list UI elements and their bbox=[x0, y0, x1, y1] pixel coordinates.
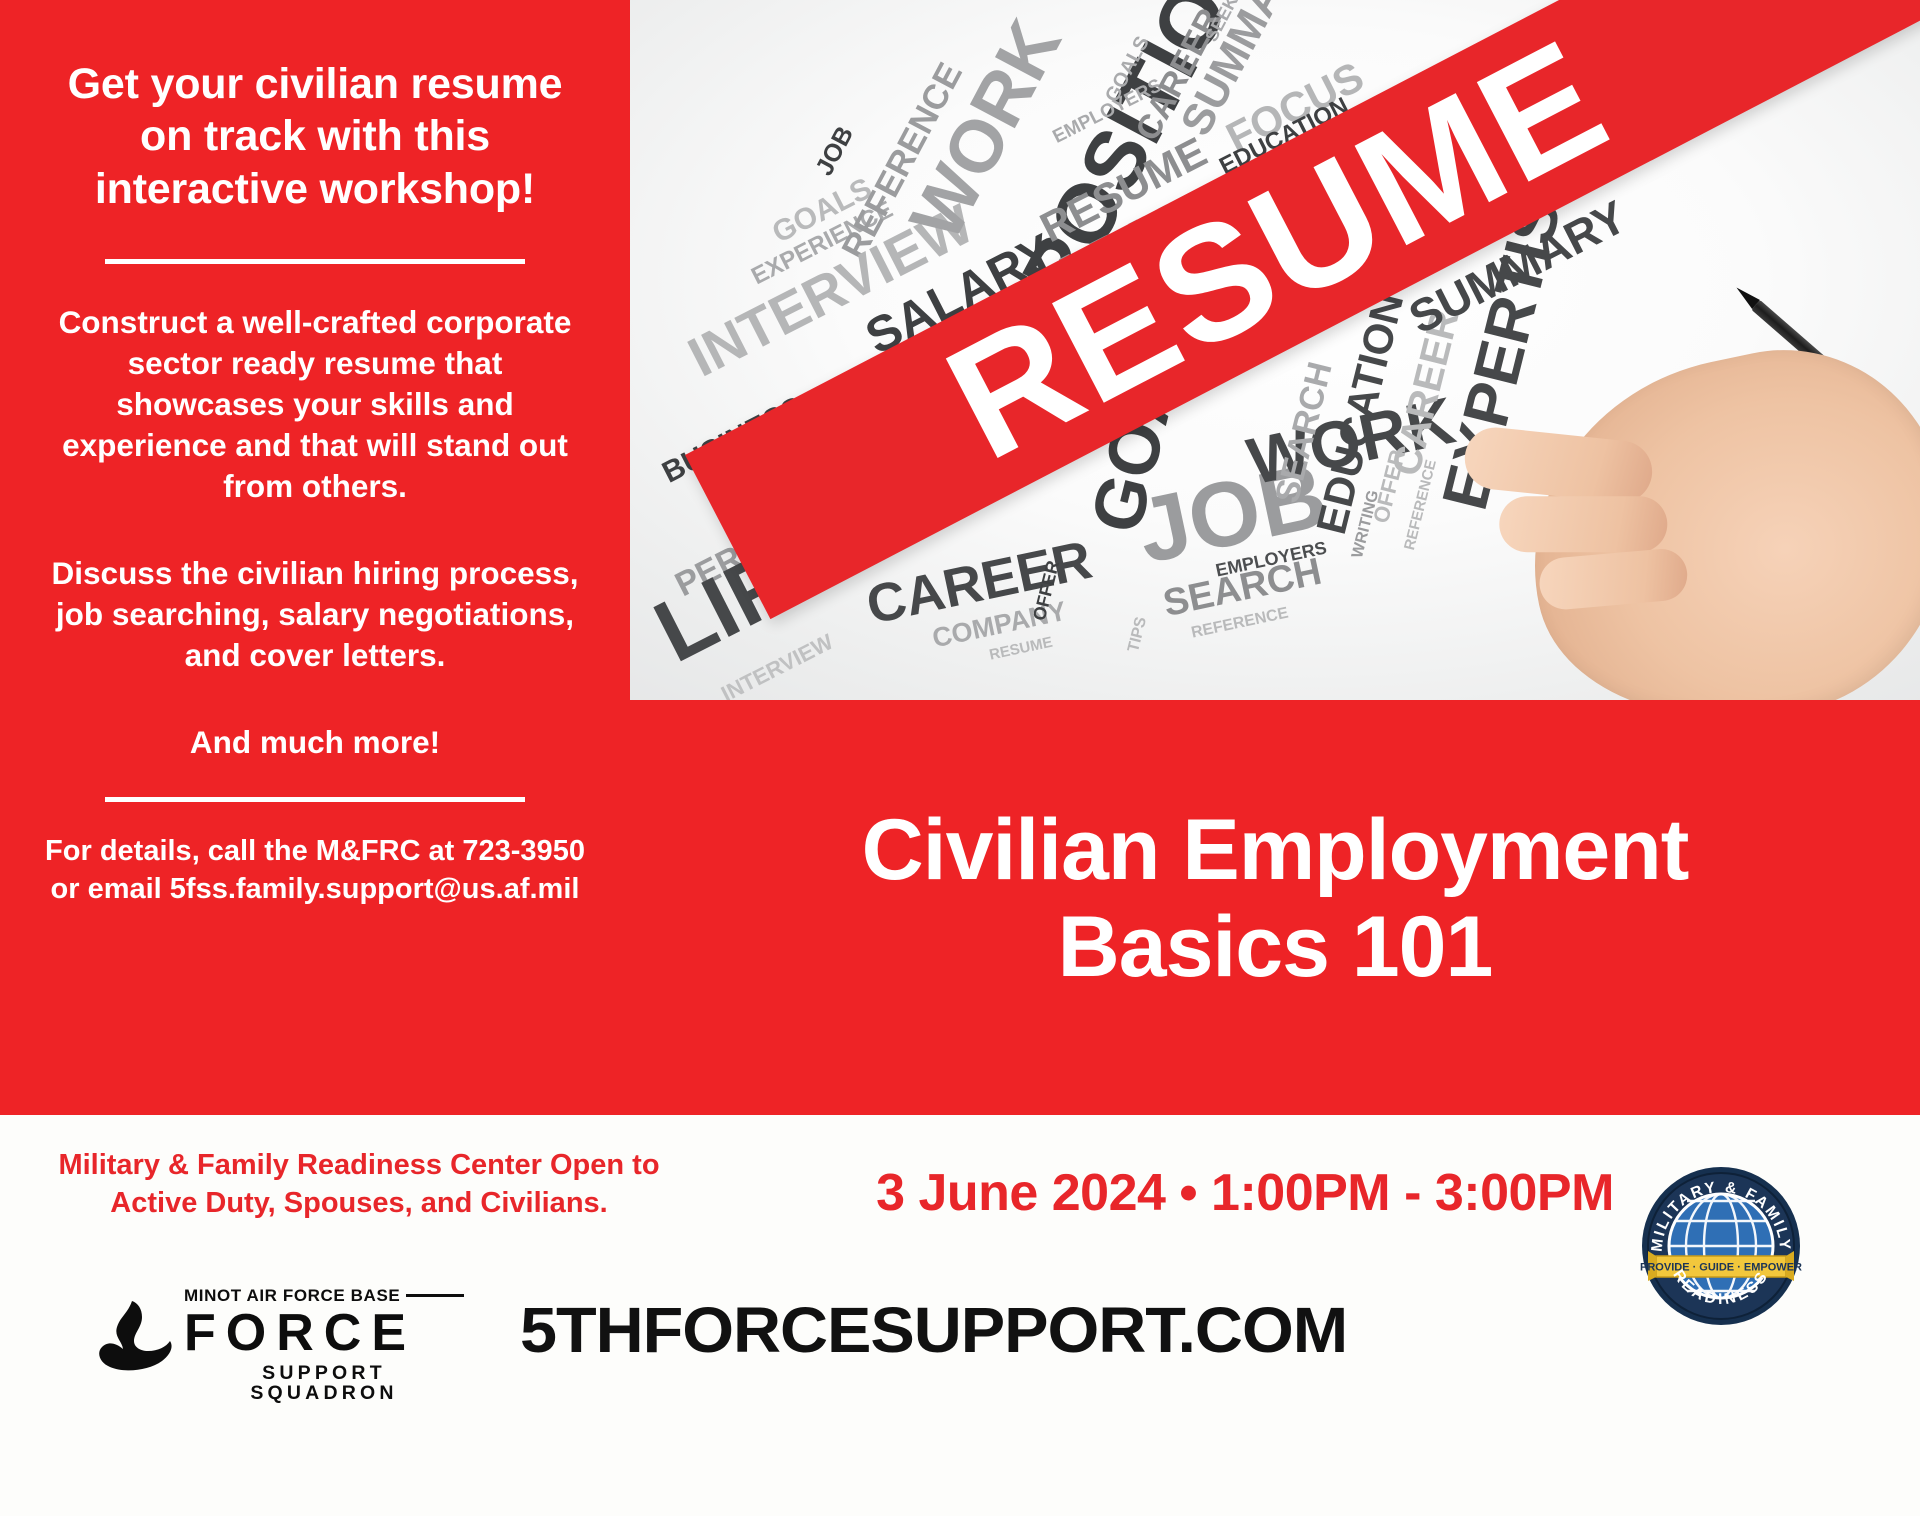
fss-logo-main-text: FORCE bbox=[184, 1306, 464, 1361]
fss-logo-text: MINOT AIR FORCE BASE FORCE SUPPORT SQUAD… bbox=[184, 1287, 464, 1403]
divider-top bbox=[105, 259, 525, 264]
event-title-line-2: Basics 101 bbox=[1058, 899, 1493, 995]
resume-word-cloud-image: GOALS JOB EXPERIENCE REFERENCE INTERVIEW… bbox=[630, 0, 1920, 700]
contact-details-text: For details, call the M&FRC at 723-3950 … bbox=[45, 832, 585, 909]
fss-logo-top-text-row: MINOT AIR FORCE BASE bbox=[184, 1287, 464, 1304]
body-paragraph-3: And much more! bbox=[45, 722, 585, 763]
left-info-panel: Get your civilian resume on track with t… bbox=[0, 0, 630, 1115]
body-paragraph-1: Construct a well-crafted corporate secto… bbox=[45, 302, 585, 507]
divider-bottom bbox=[105, 797, 525, 802]
finger-shape-3 bbox=[1537, 547, 1689, 612]
fss-logo-rule bbox=[406, 1294, 464, 1297]
wordcloud-word-job: JOB bbox=[812, 123, 858, 180]
fss-logo-bottom-text: SUPPORT SQUADRON bbox=[184, 1364, 464, 1403]
event-title-block: Civilian Employment Basics 101 bbox=[630, 700, 1920, 1115]
footer-bar: Military & Family Readiness Center Open … bbox=[0, 1115, 1920, 1516]
body-paragraph-2: Discuss the civilian hiring process, job… bbox=[45, 553, 585, 676]
event-title-line-1: Civilian Employment bbox=[862, 802, 1689, 898]
wordcloud-word-tips: TIPS bbox=[1126, 615, 1150, 653]
fss-flame-swoosh-icon bbox=[92, 1297, 176, 1377]
fss-logo-top-text: MINOT AIR FORCE BASE bbox=[184, 1287, 400, 1304]
headline-text: Get your civilian resume on track with t… bbox=[45, 58, 585, 215]
organization-text: Military & Family Readiness Center Open … bbox=[44, 1147, 674, 1222]
flyer-poster: Get your civilian resume on track with t… bbox=[0, 0, 1920, 1516]
finger-shape-2 bbox=[1499, 496, 1667, 552]
force-support-squadron-logo: MINOT AIR FORCE BASE FORCE SUPPORT SQUAD… bbox=[92, 1287, 462, 1383]
event-date-time: 3 June 2024 • 1:00PM - 3:00PM bbox=[700, 1163, 1790, 1223]
military-family-readiness-seal: PROVIDE · GUIDE · EMPOWER MILITARY & FAM… bbox=[1640, 1165, 1802, 1327]
hand-illustration bbox=[1497, 320, 1920, 700]
website-url[interactable]: 5THFORCESUPPORT.COM bbox=[520, 1293, 1347, 1367]
seal-banner-text: PROVIDE · GUIDE · EMPOWER bbox=[1640, 1262, 1802, 1274]
